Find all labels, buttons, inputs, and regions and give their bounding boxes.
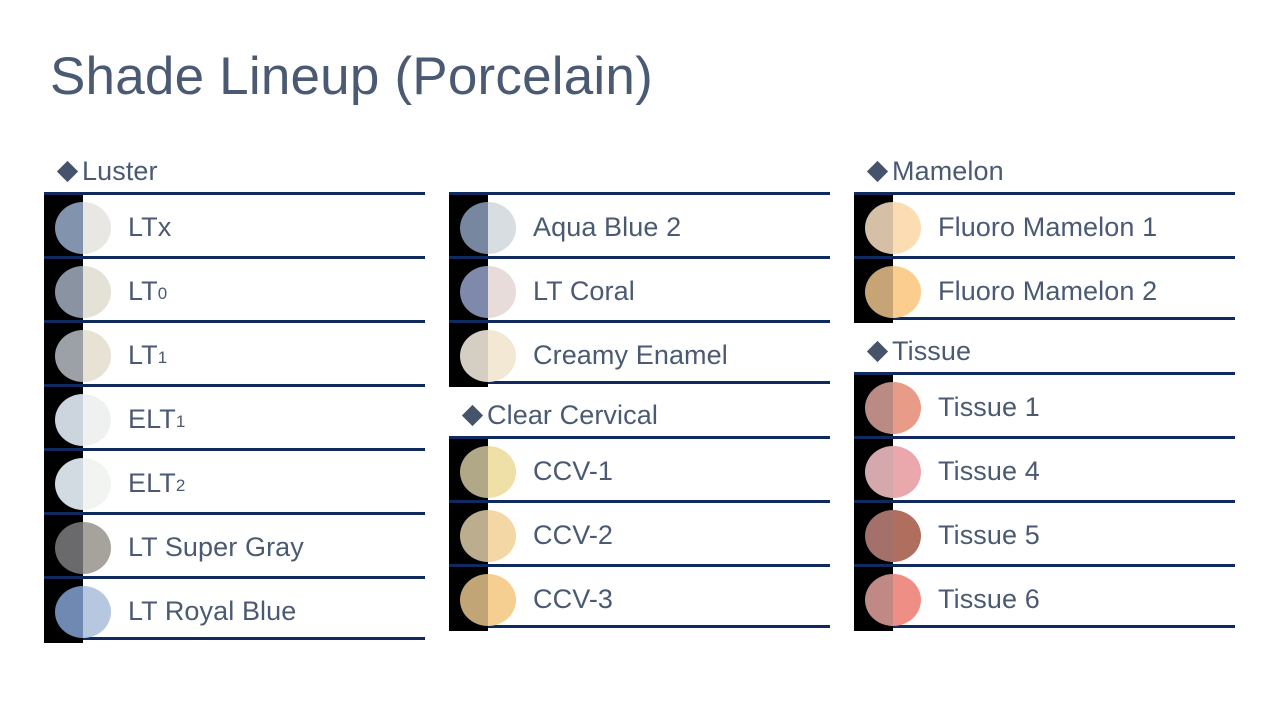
- shade-row[interactable]: CCV-3: [449, 564, 830, 628]
- page-title: Shade Lineup (Porcelain): [50, 47, 653, 106]
- shade-label: LTx: [128, 195, 171, 259]
- shade-label: LT0: [128, 259, 167, 323]
- shade-label: LT Coral: [533, 259, 635, 323]
- group-header: Tissue: [854, 330, 1235, 372]
- swatch-half-on-white: [488, 510, 516, 562]
- group-title: Mamelon: [892, 158, 1004, 185]
- shade-label-text: CCV-3: [533, 586, 613, 613]
- shade-label: Tissue 4: [938, 439, 1040, 503]
- shade-row[interactable]: Tissue 5: [854, 500, 1235, 564]
- shade-label-text: LT Super Gray: [128, 534, 304, 561]
- shade-label: Tissue 1: [938, 375, 1040, 439]
- group-title: Clear Cervical: [487, 402, 658, 429]
- shade-swatch-circle: [460, 446, 516, 498]
- shade-label: CCV-2: [533, 503, 613, 567]
- swatch-half-on-white: [893, 202, 921, 254]
- shade-swatch-circle: [865, 446, 921, 498]
- shade-label: Tissue 6: [938, 567, 1040, 631]
- shade-label: CCV-3: [533, 567, 613, 631]
- swatch-half-on-white: [488, 330, 516, 382]
- diamond-icon: [867, 161, 888, 182]
- shade-swatch-circle: [55, 202, 111, 254]
- shade-label-text: Tissue 1: [938, 394, 1040, 421]
- swatch-half-on-white: [893, 446, 921, 498]
- shade-group: LusterLTxLT0LT1ELT1ELT2LT Super GrayLT R…: [44, 150, 425, 640]
- shade-group: TissueTissue 1Tissue 4Tissue 5Tissue 6: [854, 330, 1235, 628]
- shade-group: Aqua Blue 2LT CoralCreamy Enamel: [449, 150, 830, 384]
- shade-row[interactable]: CCV-1: [449, 436, 830, 500]
- group-header: Clear Cervical: [449, 394, 830, 436]
- shade-row[interactable]: Creamy Enamel: [449, 320, 830, 384]
- swatch-half-on-white: [488, 266, 516, 318]
- diamond-icon: [57, 161, 78, 182]
- shade-swatch-circle: [865, 266, 921, 318]
- shade-label-text: Fluoro Mamelon 2: [938, 278, 1157, 305]
- shade-swatch-circle: [55, 458, 111, 510]
- shade-label: ELT2: [128, 451, 185, 515]
- shade-label-text: Tissue 6: [938, 586, 1040, 613]
- shade-label: CCV-1: [533, 439, 613, 503]
- shade-label: Tissue 5: [938, 503, 1040, 567]
- shade-swatch-circle: [55, 522, 111, 574]
- shade-group: Clear CervicalCCV-1CCV-2CCV-3: [449, 394, 830, 628]
- shade-label-text: Tissue 4: [938, 458, 1040, 485]
- shade-label-text: CCV-2: [533, 522, 613, 549]
- shade-swatch-circle: [865, 574, 921, 626]
- shade-swatch-circle: [460, 266, 516, 318]
- shade-label-text: ELT: [128, 470, 176, 497]
- group-header: Luster: [44, 150, 425, 192]
- shade-row[interactable]: LT Super Gray: [44, 512, 425, 576]
- shade-label-text: Tissue 5: [938, 522, 1040, 549]
- group-header: Mamelon: [854, 150, 1235, 192]
- shade-swatch-circle: [55, 266, 111, 318]
- shade-label: LT1: [128, 323, 167, 387]
- shade-row[interactable]: CCV-2: [449, 500, 830, 564]
- group-header-spacer: [449, 150, 830, 192]
- column-right: MamelonFluoro Mamelon 1Fluoro Mamelon 2T…: [854, 150, 1235, 628]
- swatch-half-on-white: [83, 458, 111, 510]
- shade-swatch-circle: [55, 586, 111, 638]
- swatch-half-on-white: [83, 330, 111, 382]
- shade-row[interactable]: ELT1: [44, 384, 425, 448]
- shade-swatch-circle: [865, 510, 921, 562]
- group-title: Tissue: [892, 338, 971, 365]
- shade-label: Creamy Enamel: [533, 323, 728, 387]
- column-middle: Aqua Blue 2LT CoralCreamy EnamelClear Ce…: [449, 150, 830, 628]
- shade-label-subscript: 1: [158, 349, 167, 366]
- diamond-icon: [867, 341, 888, 362]
- shade-swatch-circle: [865, 202, 921, 254]
- swatch-half-on-white: [83, 266, 111, 318]
- shade-row-list: Tissue 1Tissue 4Tissue 5Tissue 6: [854, 372, 1235, 628]
- shade-label-text: Fluoro Mamelon 1: [938, 214, 1157, 241]
- swatch-half-on-white: [83, 202, 111, 254]
- shade-label: ELT1: [128, 387, 185, 451]
- group-title: Luster: [82, 158, 158, 185]
- swatch-half-on-white: [893, 266, 921, 318]
- shade-label: Aqua Blue 2: [533, 195, 681, 259]
- shade-row[interactable]: ELT2: [44, 448, 425, 512]
- shade-swatch-circle: [460, 202, 516, 254]
- shade-swatch-circle: [460, 330, 516, 382]
- shade-row[interactable]: Tissue 1: [854, 372, 1235, 436]
- shade-row[interactable]: Aqua Blue 2: [449, 192, 830, 256]
- shade-row-list: CCV-1CCV-2CCV-3: [449, 436, 830, 628]
- shade-label-text: Aqua Blue 2: [533, 214, 681, 241]
- shade-row[interactable]: Fluoro Mamelon 2: [854, 256, 1235, 320]
- shade-row-list: Fluoro Mamelon 1Fluoro Mamelon 2: [854, 192, 1235, 320]
- shade-swatch-circle: [460, 574, 516, 626]
- swatch-half-on-white: [893, 510, 921, 562]
- shade-label-text: LT: [128, 342, 158, 369]
- swatch-half-on-white: [488, 446, 516, 498]
- shade-label: Fluoro Mamelon 2: [938, 259, 1157, 323]
- shade-label-text: LT Coral: [533, 278, 635, 305]
- shade-label: LT Royal Blue: [128, 579, 296, 643]
- shade-row[interactable]: LT1: [44, 320, 425, 384]
- shade-row[interactable]: LT0: [44, 256, 425, 320]
- swatch-half-on-white: [893, 574, 921, 626]
- shade-row[interactable]: Tissue 4: [854, 436, 1235, 500]
- slide-canvas: Shade Lineup (Porcelain) LusterLTxLT0LT1…: [0, 0, 1263, 708]
- shade-row[interactable]: LT Royal Blue: [44, 576, 425, 640]
- shade-row[interactable]: Tissue 6: [854, 564, 1235, 628]
- shade-label-subscript: 0: [158, 285, 167, 302]
- shade-label-text: LTx: [128, 214, 171, 241]
- shade-label-text: Creamy Enamel: [533, 342, 728, 369]
- shade-label-text: ELT: [128, 406, 176, 433]
- shade-label-text: LT Royal Blue: [128, 598, 296, 625]
- shade-group: MamelonFluoro Mamelon 1Fluoro Mamelon 2: [854, 150, 1235, 320]
- shade-row-list: LTxLT0LT1ELT1ELT2LT Super GrayLT Royal B…: [44, 192, 425, 640]
- swatch-half-on-white: [83, 394, 111, 446]
- swatch-half-on-white: [488, 574, 516, 626]
- shade-label-subscript: 1: [176, 413, 185, 430]
- shade-label-text: CCV-1: [533, 458, 613, 485]
- swatch-half-on-white: [83, 586, 111, 638]
- swatch-half-on-white: [83, 522, 111, 574]
- diamond-icon: [462, 405, 483, 426]
- column-left: LusterLTxLT0LT1ELT1ELT2LT Super GrayLT R…: [44, 150, 425, 640]
- shade-row-list: Aqua Blue 2LT CoralCreamy Enamel: [449, 192, 830, 384]
- shade-row[interactable]: Fluoro Mamelon 1: [854, 192, 1235, 256]
- shade-swatch-circle: [55, 394, 111, 446]
- shade-label-text: LT: [128, 278, 158, 305]
- shade-swatch-circle: [460, 510, 516, 562]
- shade-row[interactable]: LTx: [44, 192, 425, 256]
- shade-label: Fluoro Mamelon 1: [938, 195, 1157, 259]
- shade-swatch-circle: [55, 330, 111, 382]
- swatch-half-on-white: [488, 202, 516, 254]
- shade-label: LT Super Gray: [128, 515, 304, 579]
- shade-swatch-circle: [865, 382, 921, 434]
- shade-row[interactable]: LT Coral: [449, 256, 830, 320]
- swatch-half-on-white: [893, 382, 921, 434]
- shade-label-subscript: 2: [176, 477, 185, 494]
